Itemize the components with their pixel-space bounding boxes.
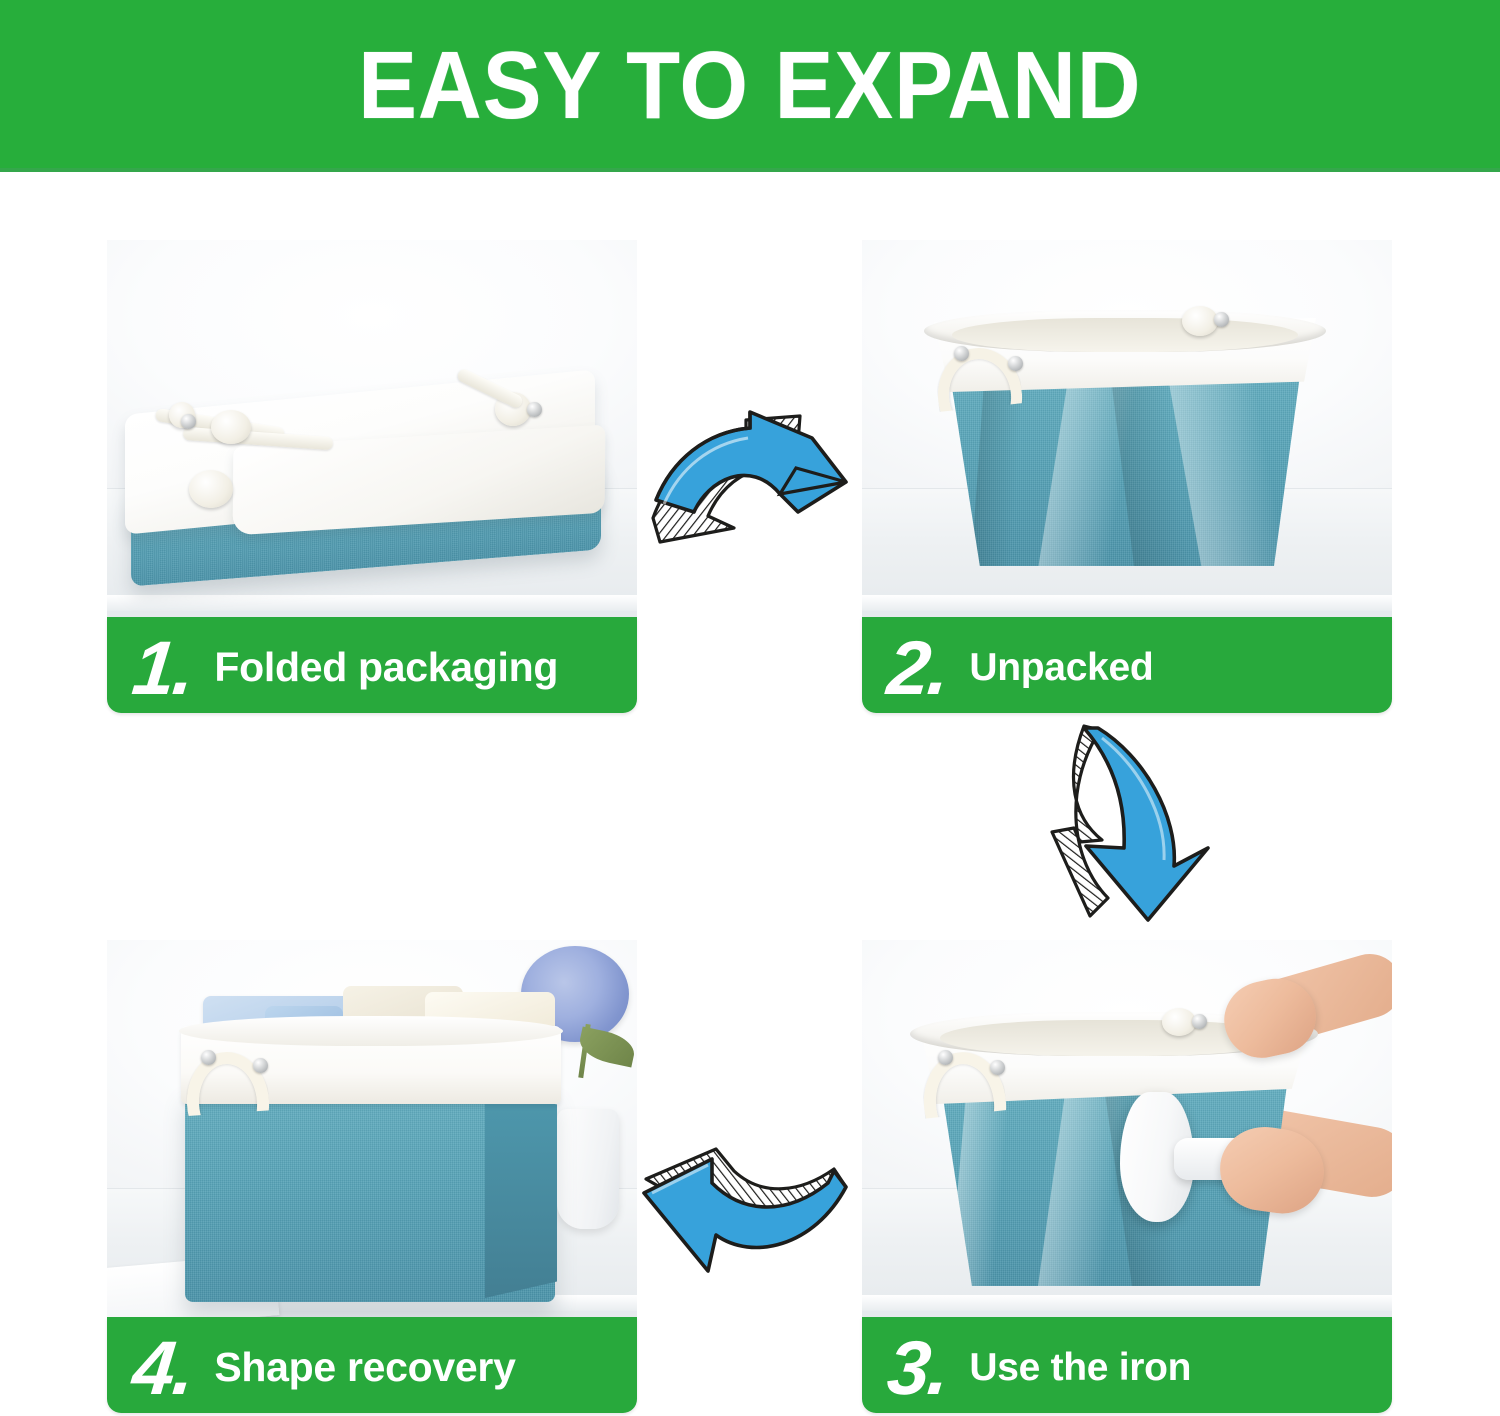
step-3-caption: 3. Use the iron	[862, 1317, 1392, 1413]
step-card-2: 2. Unpacked	[862, 240, 1392, 713]
vase-decor	[557, 1109, 619, 1229]
step-2-number: 2.	[885, 638, 951, 700]
step-4-label: Shape recovery	[214, 1347, 515, 1388]
rope-knot	[211, 410, 251, 444]
fabric-crease-shadow	[1110, 370, 1190, 566]
step-4-caption: 4. Shape recovery	[107, 1317, 637, 1413]
rope-knot	[1162, 1008, 1196, 1036]
step-3-label: Use the iron	[969, 1348, 1191, 1387]
table-edge	[107, 595, 637, 611]
grommet-icon	[938, 1050, 953, 1065]
step-card-4: 4. Shape recovery	[107, 940, 637, 1413]
step-4-photo	[107, 940, 637, 1317]
step-1-caption: 1. Folded packaging	[107, 617, 637, 713]
rope-knot	[1182, 306, 1218, 336]
step-3-number: 3.	[885, 1338, 951, 1400]
step-card-1: 1. Folded packaging	[107, 240, 637, 713]
grommet-icon	[527, 402, 542, 417]
grommet-icon	[954, 346, 969, 361]
grommet-icon	[181, 414, 196, 429]
grommet-icon	[253, 1058, 268, 1073]
step-4-number: 4.	[130, 1338, 196, 1400]
step-2-photo	[862, 240, 1392, 617]
grommet-icon	[1214, 312, 1229, 327]
arrow-step3-to-step4	[638, 1135, 868, 1300]
step-2-label: Unpacked	[969, 648, 1153, 687]
table-edge	[862, 595, 1392, 611]
rope-knot	[189, 470, 233, 508]
scene-folded-flat-pack	[107, 240, 637, 617]
basket-rim	[179, 1016, 563, 1046]
basket-teal-side	[485, 1092, 557, 1298]
step-card-3: 3. Use the iron	[862, 940, 1392, 1413]
scene-steaming-basket	[862, 940, 1392, 1317]
step-3-photo	[862, 940, 1392, 1317]
arrow-step1-to-step2	[650, 408, 865, 568]
step-1-label: Folded packaging	[214, 647, 558, 688]
arrow-step2-to-step3	[1040, 720, 1250, 925]
folded-basket	[125, 358, 625, 588]
header-banner: EASY TO EXPAND	[0, 0, 1500, 172]
page-title: EASY TO EXPAND	[358, 38, 1141, 134]
basket-interior	[952, 318, 1298, 352]
grommet-icon	[201, 1050, 216, 1065]
grommet-icon	[1192, 1014, 1207, 1029]
grommet-icon	[1008, 356, 1023, 371]
step-1-photo	[107, 240, 637, 617]
step-2-caption: 2. Unpacked	[862, 617, 1392, 713]
step-1-number: 1.	[130, 638, 196, 700]
grommet-icon	[990, 1060, 1005, 1075]
scene-restored-basket	[107, 940, 637, 1317]
table-edge	[862, 1295, 1392, 1311]
scene-creased-basket	[862, 240, 1392, 617]
